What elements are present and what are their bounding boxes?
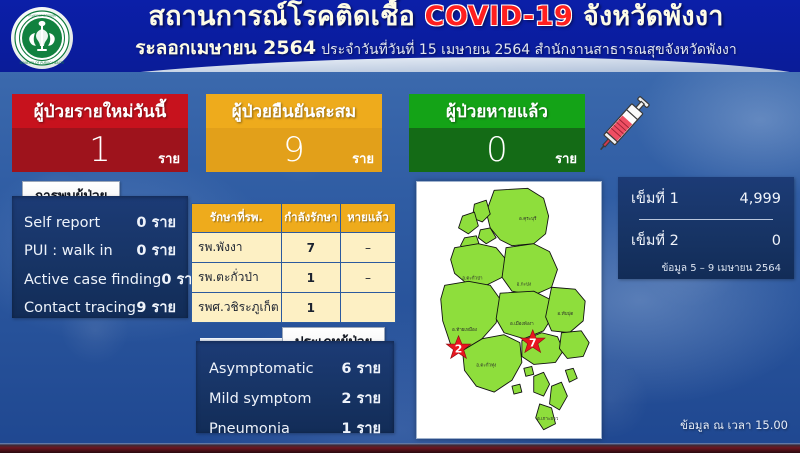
district-label: อ.ทับปุด [557, 310, 573, 317]
detection-row: PUI : walk in 0 ราย [24, 239, 176, 262]
detection-label: PUI : walk in [24, 243, 113, 259]
cell-hospital: รพ.พังงา [192, 233, 282, 263]
new-cases-value: 1 [89, 133, 111, 167]
col-header-hospital: รักษาที่รพ. [192, 204, 282, 233]
table-header-row: รักษาที่รพ. กำลังรักษา หายแล้ว [192, 204, 396, 233]
cumulative-title: ผู้ป่วยยืนยันสะสม [206, 94, 382, 128]
cumulative-unit: ราย [352, 148, 374, 169]
new-cases-unit: ราย [158, 148, 180, 169]
phang-nga-province-map: อ.คุระบุรี อ.ตะกั่วป่า อ.กะปง อ.ท้ายเหมื… [416, 181, 602, 439]
hospital-treatment-table: รักษาที่รพ. กำลังรักษา หายแล้ว รพ.พังงา … [191, 203, 396, 323]
new-cases-title: ผู้ป่วยรายใหม่วันนี้ [12, 94, 188, 128]
stat-card-new-cases: ผู้ป่วยรายใหม่วันนี้ 1 ราย [12, 94, 188, 172]
vaccine-date-range-note: ข้อมูล 5 – 9 เมษายน 2564 [631, 261, 781, 276]
cumulative-body: 9 ราย [206, 128, 382, 172]
recovered-value: 0 [486, 133, 508, 167]
table-row: รพ.ตะกั่วป่า 1 – [192, 263, 396, 293]
patient-type-row: Asymptomatic 6 ราย [209, 357, 381, 380]
recovered-body: 0 ราย [409, 128, 585, 172]
subtitle-wave-label: ระลอกเมษายน 2564 [135, 37, 316, 59]
patient-type-label: Asymptomatic [209, 361, 314, 377]
pin-count: 2 [455, 343, 463, 356]
title-covid-label: COVID-19 [425, 1, 574, 32]
detection-value: 9 ราย [136, 296, 176, 319]
dashboard-page: กระทรวงสาธารณสุข MINISTRY OF PUBLIC HEAL… [0, 0, 800, 453]
detection-label: Self report [24, 215, 100, 231]
title-prefix: สถานการณ์โรคติดเชื้อ [148, 1, 415, 32]
cumulative-value: 9 [283, 133, 305, 167]
patient-type-row: Pneumonia 1 ราย [209, 417, 381, 440]
dose1-label: เข็มที่ 1 [631, 187, 679, 210]
vaccine-doses-panel: เข็มที่ 1 4,999 เข็มที่ 2 0 ข้อมูล 5 – 9… [618, 177, 794, 279]
cell-recovered [340, 293, 395, 323]
page-title: สถานการณ์โรคติดเชื้อ COVID-19 จังหวัดพัง… [80, 2, 792, 32]
bottom-accent-strip [0, 443, 800, 453]
detection-value: 0 ราย [136, 239, 176, 262]
header-title-block: สถานการณ์โรคติดเชื้อ COVID-19 จังหวัดพัง… [80, 2, 792, 63]
dose-row-first: เข็มที่ 1 4,999 [631, 187, 781, 210]
detection-row: Contact tracing 9 ราย [24, 296, 176, 319]
patient-type-value: 2 ราย [341, 387, 381, 410]
district-label: อ.เมืองพังงา [510, 320, 534, 327]
col-header-recovered: หายแล้ว [340, 204, 395, 233]
new-cases-body: 1 ราย [12, 128, 188, 172]
data-timestamp-note: ข้อมูล ณ เวลา 15.00 [680, 417, 788, 435]
cell-recovered: – [340, 263, 395, 293]
svg-text:MINISTRY OF PUBLIC HEALTH: MINISTRY OF PUBLIC HEALTH [20, 61, 65, 65]
cell-recovered: – [340, 233, 395, 263]
table-row: รพศ.วชิระภูเก็ต 1 [192, 293, 396, 323]
patient-type-label: Pneumonia [209, 421, 290, 437]
cell-treating: 1 [281, 263, 340, 293]
detection-panel: Self report 0 ราย PUI : walk in 0 ราย Ac… [12, 196, 188, 318]
patient-type-value: 1 ราย [341, 417, 381, 440]
col-header-treating: กำลังรักษา [281, 204, 340, 233]
dose2-label: เข็มที่ 2 [631, 229, 679, 252]
table-row: รพ.พังงา 7 – [192, 233, 396, 263]
cell-treating: 1 [281, 293, 340, 323]
dose1-value: 4,999 [739, 191, 781, 207]
detection-row: Self report 0 ราย [24, 211, 176, 234]
patient-type-value: 6 ราย [341, 357, 381, 380]
syringe-icon [592, 88, 654, 160]
detection-row: Active case finding 0 ราย [24, 268, 176, 291]
patient-type-row: Mild symptom 2 ราย [209, 387, 381, 410]
ministry-of-public-health-logo-icon: กระทรวงสาธารณสุข MINISTRY OF PUBLIC HEAL… [11, 7, 73, 69]
page-header: กระทรวงสาธารณสุข MINISTRY OF PUBLIC HEAL… [0, 0, 800, 72]
district-label: อ.กะปง [517, 281, 531, 287]
recovered-unit: ราย [555, 148, 577, 169]
district-label: อ.คุระบุรี [519, 215, 537, 222]
detection-label: Active case finding [24, 272, 161, 288]
cell-treating: 7 [281, 233, 340, 263]
detection-label: Contact tracing [24, 300, 136, 316]
stat-card-recovered: ผู้ป่วยหายแล้ว 0 ราย [409, 94, 585, 172]
recovered-title: ผู้ป่วยหายแล้ว [409, 94, 585, 128]
stat-card-cumulative-cases: ผู้ป่วยยืนยันสะสม 9 ราย [206, 94, 382, 172]
district-label: อ.เกาะยาว [537, 417, 559, 422]
pin-count: 7 [529, 337, 537, 350]
district-label: อ.ตะกั่วป่า [462, 274, 483, 281]
page-subtitle: ระลอกเมษายน 2564 ประจำวันที่วันที่ 15 เม… [80, 33, 792, 63]
title-suffix: จังหวัดพังงา [583, 1, 724, 32]
district-label: อ.ท้ายเหมือง [452, 326, 477, 333]
cell-hospital: รพ.ตะกั่วป่า [192, 263, 282, 293]
patient-type-panel: Asymptomatic 6 ราย Mild symptom 2 ราย Pn… [196, 341, 394, 433]
dose2-value: 0 [772, 233, 781, 249]
dose-row-second: เข็มที่ 2 0 [631, 229, 781, 252]
cell-hospital: รพศ.วชิระภูเก็ต [192, 293, 282, 323]
detection-value: 0 ราย [136, 211, 176, 234]
district-label: อ.ตะกั่วทุ่ง [476, 361, 496, 368]
dose-divider [639, 219, 773, 220]
patient-type-label: Mild symptom [209, 391, 312, 407]
subtitle-date-source: ประจำวันที่วันที่ 15 เมษายน 2564 สำนักงา… [321, 42, 737, 58]
